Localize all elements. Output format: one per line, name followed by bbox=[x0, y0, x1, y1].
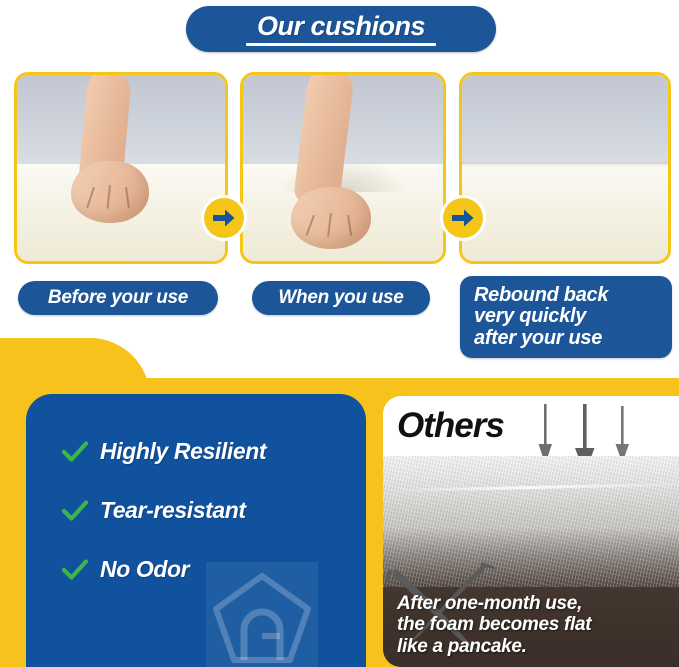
infographic-page: Our cushions bbox=[0, 0, 679, 667]
page-title: Our cushions bbox=[257, 13, 425, 40]
caption-after-line-1: Rebound back bbox=[474, 285, 608, 307]
step-arrow-1 bbox=[204, 198, 244, 238]
page-title-banner: Our cushions bbox=[186, 6, 496, 52]
foam-cushion-surface-rebounded bbox=[462, 164, 668, 261]
check-icon bbox=[62, 441, 88, 463]
scene-during bbox=[243, 75, 443, 261]
step-arrow-2 bbox=[443, 198, 483, 238]
caption-after: Rebound back very quickly after your use bbox=[460, 276, 672, 358]
feature-label: Tear-resistant bbox=[100, 497, 246, 524]
others-caption-line-1: After one-month use, bbox=[397, 593, 665, 614]
caption-during: When you use bbox=[252, 281, 430, 315]
scene-before bbox=[17, 75, 225, 261]
demo-photo-after bbox=[459, 72, 671, 264]
others-caption: After one-month use, the foam becomes fl… bbox=[397, 593, 665, 657]
scene-after bbox=[462, 75, 668, 261]
caption-after-line-2: very quickly bbox=[474, 306, 586, 328]
feature-item-tear-resistant: Tear-resistant bbox=[62, 497, 352, 524]
right-arrow-icon bbox=[452, 209, 474, 227]
brand-watermark bbox=[206, 562, 318, 667]
title-underline bbox=[246, 43, 436, 46]
check-icon bbox=[62, 559, 88, 581]
feature-item-highly-resilient: Highly Resilient bbox=[62, 438, 352, 465]
others-caption-line-3: like a pancake. bbox=[397, 636, 665, 657]
check-icon bbox=[62, 500, 88, 522]
scene-background-wall bbox=[462, 75, 668, 164]
others-title: Others bbox=[397, 408, 504, 443]
demo-photo-strip bbox=[0, 60, 679, 270]
demo-photo-before bbox=[14, 72, 228, 264]
house-pentagon-watermark-icon bbox=[206, 562, 318, 667]
others-caption-line-2: the foam becomes flat bbox=[397, 614, 665, 635]
right-arrow-icon bbox=[213, 209, 235, 227]
others-comparison-card: Others bbox=[383, 396, 679, 667]
feature-label: Highly Resilient bbox=[100, 438, 266, 465]
demo-photo-during bbox=[240, 72, 446, 264]
caption-after-line-3: after your use bbox=[474, 328, 602, 350]
down-arrow-icon bbox=[616, 406, 630, 463]
down-arrow-icon bbox=[539, 404, 553, 464]
feature-label: No Odor bbox=[100, 556, 189, 583]
caption-before: Before your use bbox=[18, 281, 218, 315]
